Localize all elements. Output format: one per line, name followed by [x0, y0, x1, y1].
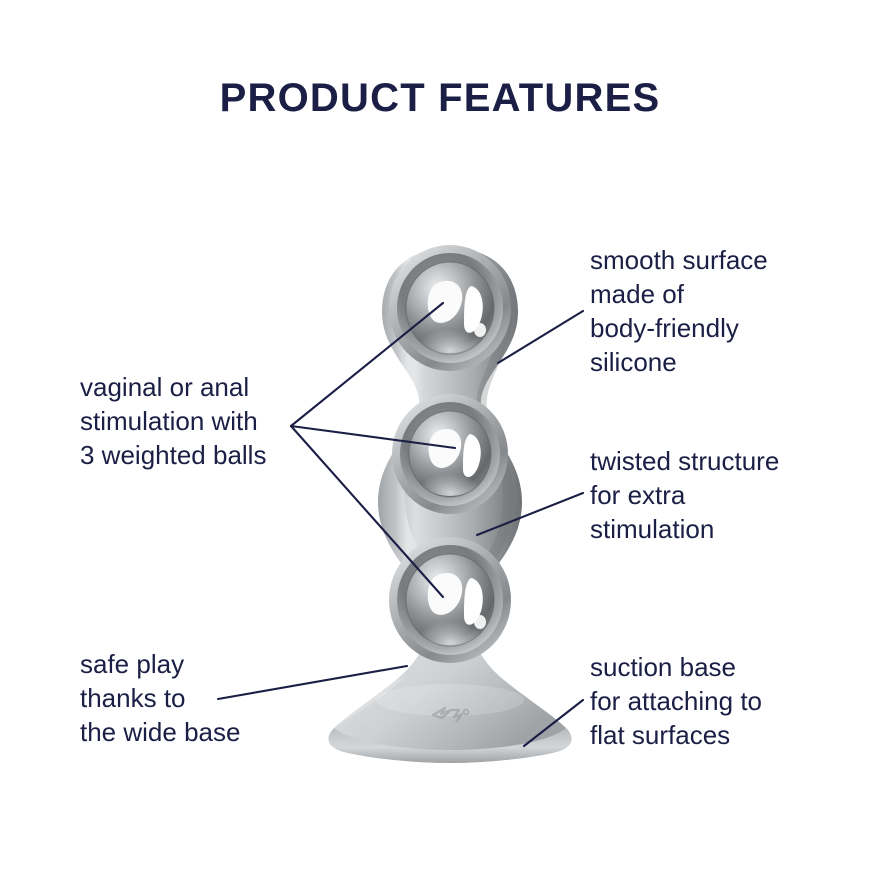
callout-weighted-balls: vaginal or anal stimulation with 3 weigh… — [80, 370, 266, 472]
weighted-ball-top — [389, 245, 511, 371]
callout-line: thanks to — [80, 681, 240, 715]
callout-twisted-structure: twisted structure for extra stimulation — [590, 444, 779, 546]
callout-line: stimulation — [590, 512, 779, 546]
callout-smooth-surface: smooth surface made of body-friendly sil… — [590, 243, 768, 379]
callout-line: body-friendly — [590, 311, 768, 345]
callout-line: suction base — [590, 650, 762, 684]
callout-line: twisted structure — [590, 444, 779, 478]
callout-line: for extra — [590, 478, 779, 512]
product-illustration — [300, 230, 600, 770]
callout-line: made of — [590, 277, 768, 311]
callout-safe-play: safe play thanks to the wide base — [80, 647, 240, 749]
weighted-ball-bottom — [389, 537, 511, 663]
callout-line: stimulation with — [80, 404, 266, 438]
weighted-ball-middle — [392, 394, 508, 514]
callout-line: vaginal or anal — [80, 370, 266, 404]
callout-line: smooth surface — [590, 243, 768, 277]
callout-suction-base: suction base for attaching to flat surfa… — [590, 650, 762, 752]
callout-line: for attaching to — [590, 684, 762, 718]
callout-line: flat surfaces — [590, 718, 762, 752]
callout-line: 3 weighted balls — [80, 438, 266, 472]
callout-line: the wide base — [80, 715, 240, 749]
page-title: PRODUCT FEATURES — [0, 76, 880, 121]
callout-line: silicone — [590, 345, 768, 379]
callout-line: safe play — [80, 647, 240, 681]
infographic-canvas: PRODUCT FEATURES — [0, 0, 880, 880]
